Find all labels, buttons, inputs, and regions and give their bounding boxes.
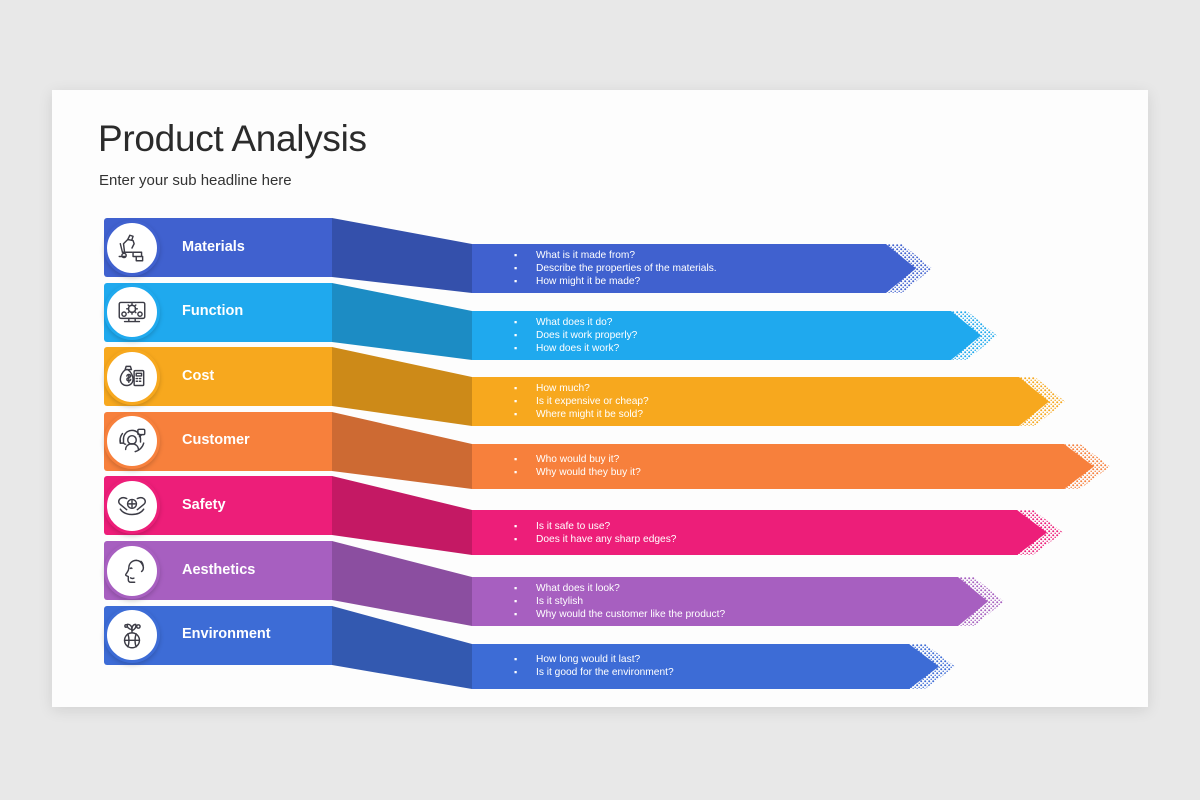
row-label: Customer bbox=[182, 432, 250, 448]
row-connector-ribbon bbox=[332, 606, 472, 689]
row-bullet-list: ▪What does it look?▪Is it stylish▪Why wo… bbox=[514, 582, 725, 621]
bullet-dot-icon: ▪ bbox=[514, 520, 536, 533]
bullet-item: ▪What is it made from? bbox=[514, 249, 717, 262]
bullet-item: ▪Is it expensive or cheap? bbox=[514, 395, 649, 408]
bullet-text: How might it be made? bbox=[536, 275, 640, 288]
bullet-text: How much? bbox=[536, 382, 590, 395]
row-bullet-list: ▪How long would it last?▪Is it good for … bbox=[514, 653, 674, 679]
bullet-item: ▪Is it safe to use? bbox=[514, 520, 676, 533]
row-icon-money-bag-calculator-icon bbox=[104, 349, 160, 405]
infographic-rows: Materials▪What is it made from?▪Describe… bbox=[52, 90, 1148, 707]
bullet-item: ▪Is it stylish bbox=[514, 595, 725, 608]
bullet-item: ▪What does it do? bbox=[514, 316, 637, 329]
bullet-item: ▪Where might it be sold? bbox=[514, 408, 649, 421]
bullet-dot-icon: ▪ bbox=[514, 329, 536, 342]
row-icon-support-agent-icon bbox=[104, 413, 160, 469]
row-bullet-list: ▪What is it made from?▪Describe the prop… bbox=[514, 249, 717, 288]
bullet-text: Why would the customer like the product? bbox=[536, 608, 725, 621]
bullet-item: ▪How might it be made? bbox=[514, 275, 717, 288]
bullet-dot-icon: ▪ bbox=[514, 453, 536, 466]
row-icon-gears-monitor-icon bbox=[104, 284, 160, 340]
bullet-dot-icon: ▪ bbox=[514, 316, 536, 329]
bullet-text: Is it good for the environment? bbox=[536, 666, 674, 679]
support-agent-icon bbox=[115, 424, 149, 458]
row-label: Materials bbox=[182, 239, 245, 255]
bullet-text: What does it do? bbox=[536, 316, 612, 329]
bullet-text: How long would it last? bbox=[536, 653, 640, 666]
bullet-dot-icon: ▪ bbox=[514, 249, 536, 262]
row-arrow-bar[interactable]: ▪Who would buy it?▪Why would they buy it… bbox=[472, 444, 1110, 489]
bullet-dot-icon: ▪ bbox=[514, 262, 536, 275]
row-icon-plant-earth-icon bbox=[104, 607, 160, 663]
plant-earth-icon bbox=[115, 618, 149, 652]
bullet-item: ▪Does it have any sharp edges? bbox=[514, 533, 676, 546]
bullet-item: ▪Why would they buy it? bbox=[514, 466, 641, 479]
row-bullet-list: ▪What does it do?▪Does it work properly?… bbox=[514, 316, 637, 355]
bullet-item: ▪Why would the customer like the product… bbox=[514, 608, 725, 621]
bullet-text: Who would buy it? bbox=[536, 453, 619, 466]
bullet-dot-icon: ▪ bbox=[514, 666, 536, 679]
row-label: Cost bbox=[182, 368, 214, 384]
slide-card: Product Analysis Enter your sub headline… bbox=[52, 90, 1148, 707]
bullet-item: ▪How much? bbox=[514, 382, 649, 395]
row-label: Aesthetics bbox=[182, 562, 255, 578]
bullet-dot-icon: ▪ bbox=[514, 595, 536, 608]
row-label: Environment bbox=[182, 626, 271, 642]
bullet-text: Is it stylish bbox=[536, 595, 583, 608]
bullet-item: ▪Who would buy it? bbox=[514, 453, 641, 466]
bullet-dot-icon: ▪ bbox=[514, 466, 536, 479]
bullet-text: Does it have any sharp edges? bbox=[536, 533, 676, 546]
row-label: Safety bbox=[182, 497, 226, 513]
bullet-text: What does it look? bbox=[536, 582, 620, 595]
bullet-dot-icon: ▪ bbox=[514, 382, 536, 395]
row-arrow-bar[interactable]: ▪What does it do?▪Does it work properly?… bbox=[472, 311, 997, 360]
bullet-dot-icon: ▪ bbox=[514, 408, 536, 421]
bullet-dot-icon: ▪ bbox=[514, 582, 536, 595]
row-arrow-bar[interactable]: ▪How much?▪Is it expensive or cheap?▪Whe… bbox=[472, 377, 1065, 426]
bullet-text: Why would they buy it? bbox=[536, 466, 641, 479]
money-bag-calculator-icon bbox=[115, 360, 149, 394]
bullet-item: ▪How does it work? bbox=[514, 342, 637, 355]
bullet-item: ▪What does it look? bbox=[514, 582, 725, 595]
bullet-text: Is it expensive or cheap? bbox=[536, 395, 649, 408]
row-icon-wheelbarrow-bricks-icon bbox=[104, 220, 160, 276]
bullet-item: ▪Is it good for the environment? bbox=[514, 666, 674, 679]
row-icon-hands-medical-cross-icon bbox=[104, 478, 160, 534]
wheelbarrow-bricks-icon bbox=[115, 231, 149, 265]
row-arrow-bar[interactable]: ▪What does it look?▪Is it stylish▪Why wo… bbox=[472, 577, 1004, 626]
bullet-text: What is it made from? bbox=[536, 249, 635, 262]
row-arrow-bar[interactable]: ▪How long would it last?▪Is it good for … bbox=[472, 644, 955, 689]
row-arrow-bar[interactable]: ▪Is it safe to use?▪Does it have any sha… bbox=[472, 510, 1063, 555]
row-bullet-list: ▪Is it safe to use?▪Does it have any sha… bbox=[514, 520, 676, 546]
bullet-text: How does it work? bbox=[536, 342, 619, 355]
hands-medical-cross-icon bbox=[115, 489, 149, 523]
bullet-text: Does it work properly? bbox=[536, 329, 637, 342]
row-label: Function bbox=[182, 303, 243, 319]
bullet-item: ▪Describe the properties of the material… bbox=[514, 262, 717, 275]
bullet-text: Is it safe to use? bbox=[536, 520, 610, 533]
row-bullet-list: ▪How much?▪Is it expensive or cheap?▪Whe… bbox=[514, 382, 649, 421]
bullet-item: ▪How long would it last? bbox=[514, 653, 674, 666]
bullet-dot-icon: ▪ bbox=[514, 275, 536, 288]
bullet-text: Describe the properties of the materials… bbox=[536, 262, 717, 275]
row-bullet-list: ▪Who would buy it?▪Why would they buy it… bbox=[514, 453, 641, 479]
bullet-dot-icon: ▪ bbox=[514, 342, 536, 355]
gears-monitor-icon bbox=[115, 295, 149, 329]
face-profile-icon bbox=[115, 554, 149, 588]
bullet-item: ▪Does it work properly? bbox=[514, 329, 637, 342]
bullet-dot-icon: ▪ bbox=[514, 608, 536, 621]
bullet-dot-icon: ▪ bbox=[514, 533, 536, 546]
bullet-dot-icon: ▪ bbox=[514, 395, 536, 408]
bullet-text: Where might it be sold? bbox=[536, 408, 643, 421]
row-arrow-bar[interactable]: ▪What is it made from?▪Describe the prop… bbox=[472, 244, 932, 293]
row-icon-face-profile-icon bbox=[104, 543, 160, 599]
bullet-dot-icon: ▪ bbox=[514, 653, 536, 666]
